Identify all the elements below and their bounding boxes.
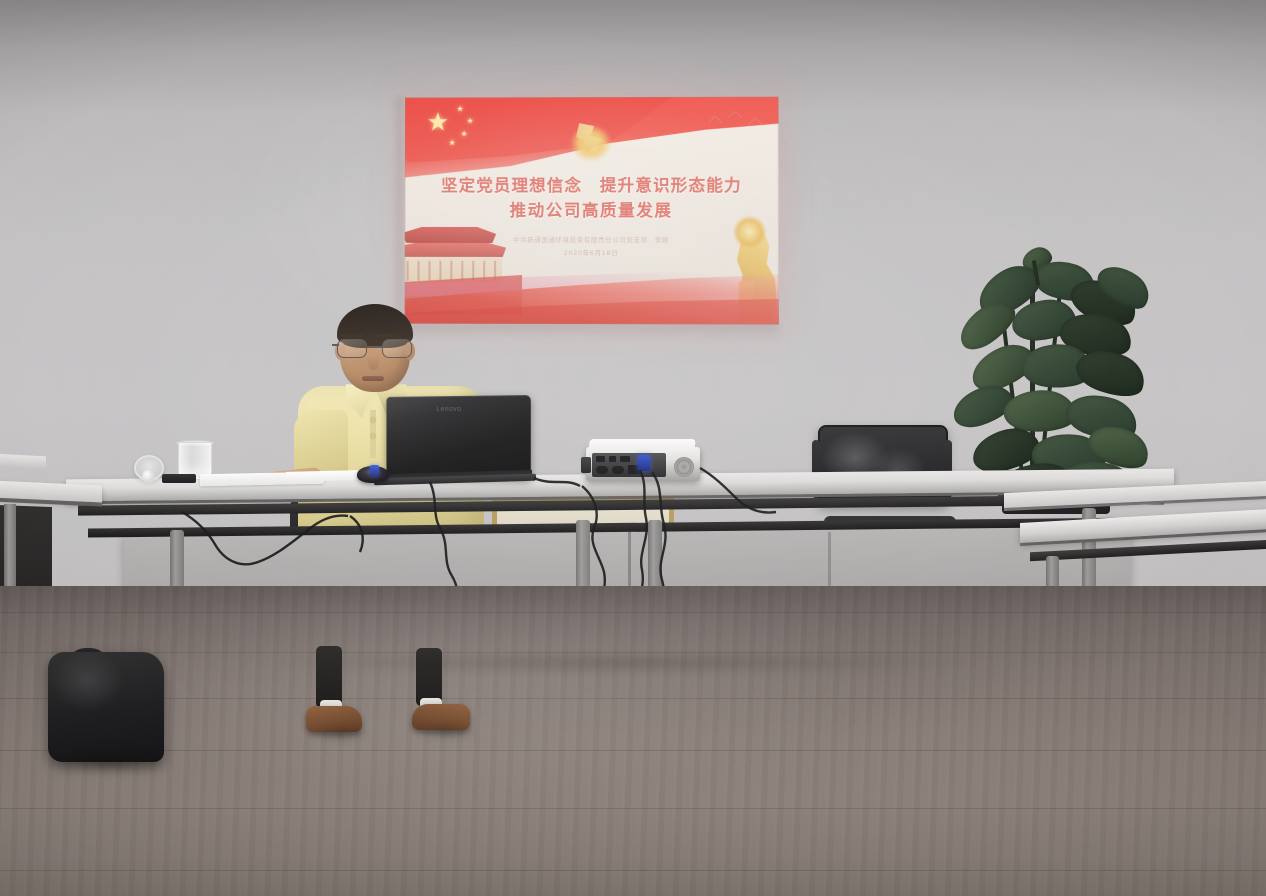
projector[interactable] <box>586 437 700 489</box>
gold-star-icon: ★ <box>427 110 449 135</box>
gold-star-small-icon: ★ <box>460 130 467 138</box>
shoe-shadow <box>300 726 380 742</box>
slide-subtitle-line-2: 2020年6月18日 <box>405 248 779 260</box>
photo-scene: ★ ★ ★ ★ ★ 坚定党员理想信念 提升意识形态能力 推 <box>0 0 1266 896</box>
laptop-lid: Lenovo <box>387 395 531 479</box>
slide-title-line-2: 推动公司高质量发展 <box>405 198 779 223</box>
slide-text-block: 坚定党员理想信念 提升意识形态能力 推动公司高质量发展 中共新通国通环境投资有限… <box>405 173 779 260</box>
eyebrow-right <box>370 334 394 337</box>
laptop-brand-label: Lenovo <box>436 406 461 413</box>
shoe-shadow <box>406 724 486 740</box>
mouth <box>362 376 384 381</box>
projected-slide: ★ ★ ★ ★ ★ 坚定党员理想信念 提升意识形态能力 推 <box>405 97 779 325</box>
gold-star-small-icon: ★ <box>466 117 473 125</box>
small-white-ball <box>142 470 155 483</box>
left-table-far-surface <box>0 454 46 471</box>
eyebrow-left <box>340 334 364 337</box>
slide-subtitle-line-1: 中共新通国通环境投资有限责任公司党支部 李刚 <box>405 235 779 247</box>
desk-floor-shadow <box>120 648 1120 678</box>
gold-star-small-icon: ★ <box>449 139 456 147</box>
slide-title-line-1: 坚定党员理想信念 提升意识形态能力 <box>405 173 779 198</box>
projector-lens-icon <box>581 457 591 473</box>
gold-star-small-icon: ★ <box>457 105 464 113</box>
floor-sheen <box>120 600 1020 840</box>
usb-connector-icon <box>370 465 379 476</box>
papers-stack <box>286 470 360 482</box>
flying-birds-icon <box>702 109 772 135</box>
nose <box>368 356 379 370</box>
mobile-phone[interactable] <box>162 474 196 483</box>
backpack-shadow <box>40 752 180 774</box>
projector-port-panel <box>592 453 666 477</box>
projector-vent-icon <box>674 457 694 477</box>
projector-top-shell <box>588 439 696 452</box>
vga-connector-icon <box>638 455 650 471</box>
